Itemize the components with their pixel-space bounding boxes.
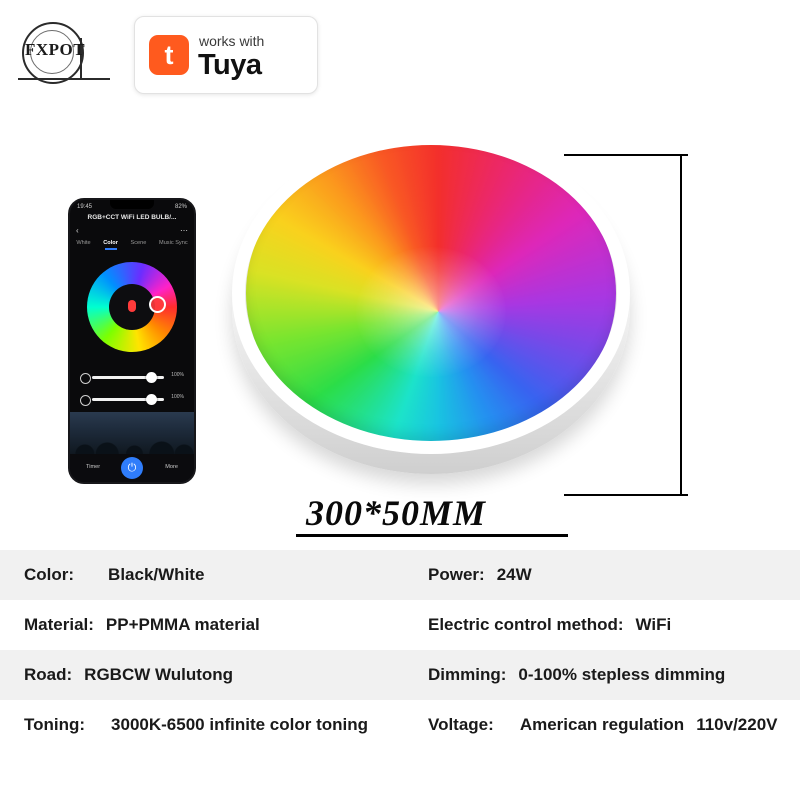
tab-music-sync[interactable]: Music Sync — [159, 240, 188, 250]
spec-value: 0-100% stepless dimming — [518, 665, 725, 685]
spec-key: Toning: — [24, 715, 85, 735]
back-icon[interactable]: ‹ — [76, 226, 79, 235]
dimension-vertical-line — [680, 154, 682, 494]
spec-cell-control-method: Electric control method: WiFi — [428, 600, 800, 650]
color-wheel-handle[interactable] — [149, 296, 166, 313]
table-row: Material: PP+PMMA material Electric cont… — [0, 600, 800, 650]
spec-key: Electric control method: — [428, 615, 624, 635]
spec-value: 3000K-6500 infinite color toning — [111, 715, 368, 735]
logo-horizontal-bar — [18, 78, 110, 80]
spec-cell-road: Road: RGBCW Wulutong — [0, 650, 428, 700]
app-tab-bar: White Color Scene Music Sync — [70, 240, 194, 250]
saturation-value: 100% — [171, 394, 184, 400]
tab-white[interactable]: White — [76, 240, 90, 250]
app-bottom-bar: Timer ⏻ More — [70, 454, 194, 482]
dimension-bracket — [560, 150, 688, 498]
status-time: 19:45 — [77, 202, 92, 213]
brightness-icon — [80, 373, 91, 384]
works-with-label: works with — [199, 33, 264, 49]
phone-notch — [110, 200, 154, 209]
spec-key: Road: — [24, 665, 72, 685]
spec-cell-material: Material: PP+PMMA material — [0, 600, 428, 650]
tuya-platform-name: Tuya — [198, 49, 262, 82]
dimension-top-line — [564, 154, 688, 156]
spec-key: Voltage: — [428, 715, 494, 735]
app-nav-row: ‹ ⋯ — [70, 226, 194, 238]
spec-key: Power: — [428, 565, 485, 585]
tuya-logo-icon: t — [149, 35, 189, 75]
spec-cell-toning: Toning: 3000K-6500 infinite color toning — [0, 700, 428, 750]
table-row: Road: RGBCW Wulutong Dimming: 0-100% ste… — [0, 650, 800, 700]
saturation-slider-knob[interactable] — [146, 394, 157, 405]
size-label: 300*50MM — [306, 492, 486, 534]
spec-cell-dimming: Dimming: 0-100% stepless dimming — [428, 650, 800, 700]
status-battery: 82% — [175, 202, 187, 213]
spec-key: Color: — [24, 565, 74, 585]
brightness-slider[interactable]: 100% — [80, 370, 184, 384]
color-wheel-pointer[interactable] — [128, 300, 136, 312]
saturation-slider[interactable]: 100% — [80, 392, 184, 406]
scene-preview-image — [70, 412, 194, 454]
more-button[interactable]: More — [165, 464, 178, 470]
dots-horizontal-icon[interactable]: ⋯ — [180, 226, 188, 235]
spec-value: 24W — [497, 565, 532, 585]
spec-cell-color: Color: Black/White — [0, 550, 428, 600]
spec-value: Black/White — [108, 565, 204, 585]
app-device-title: RGB+CCT WiFi LED BULB/... — [70, 214, 194, 221]
spec-cell-voltage: Voltage: American regulation 110v/220V — [428, 700, 800, 750]
spec-value: RGBCW Wulutong — [84, 665, 233, 685]
scene-treeline — [70, 436, 194, 454]
spec-value: PP+PMMA material — [106, 615, 260, 635]
spec-key: Material: — [24, 615, 94, 635]
brand-logo: FXPOT — [18, 18, 110, 86]
brand-wordmark: FXPOT — [25, 40, 85, 60]
power-icon[interactable]: ⏻ — [121, 457, 143, 479]
brightness-value: 100% — [171, 372, 184, 378]
specification-table: Color: Black/White Power: 24W Material: … — [0, 548, 800, 750]
saturation-icon — [80, 395, 91, 406]
size-label-underline — [296, 534, 568, 537]
brightness-slider-knob[interactable] — [146, 372, 157, 383]
tab-scene[interactable]: Scene — [131, 240, 147, 250]
spec-key: Dimming: — [428, 665, 506, 685]
spec-cell-power: Power: 24W — [428, 550, 800, 600]
table-row: Toning: 3000K-6500 infinite color toning… — [0, 700, 800, 750]
timer-button[interactable]: Timer — [86, 464, 100, 470]
spec-value: American regulation — [520, 715, 684, 735]
spec-value-voltage-range: 110v/220V — [696, 715, 777, 735]
table-row: Color: Black/White Power: 24W — [0, 550, 800, 600]
spec-value: WiFi — [636, 615, 672, 635]
tab-color[interactable]: Color — [103, 240, 118, 250]
works-with-tuya-badge: t works with Tuya — [134, 16, 318, 94]
dimension-bottom-line — [564, 494, 688, 496]
phone-mockup: 19:45 82% RGB+CCT WiFi LED BULB/... ‹ ⋯ … — [68, 198, 196, 484]
